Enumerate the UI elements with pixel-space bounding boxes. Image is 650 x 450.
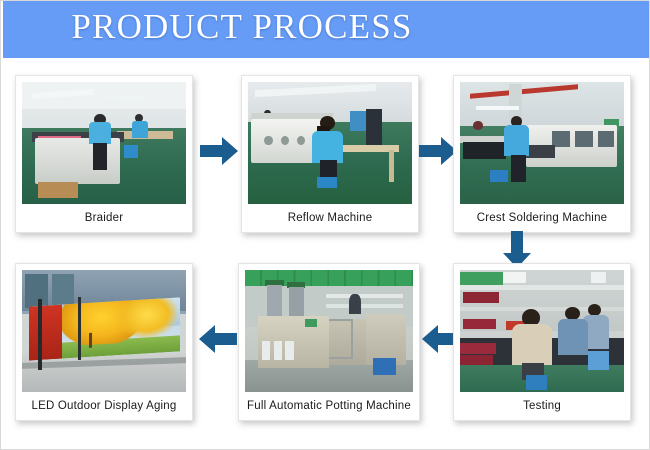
photo-crest-soldering-machine [459,81,625,205]
header-banner: PRODUCT PROCESS [3,1,650,58]
process-card-label: Crest Soldering Machine [459,205,625,232]
photo-braider [21,81,187,205]
arrow-left-icon [198,323,237,355]
scene-braider-workshop [22,82,186,204]
process-card-crest-soldering-machine[interactable]: Crest Soldering Machine [453,75,631,233]
process-card-full-automatic-potting-machine[interactable]: Full Automatic Potting Machine [238,263,420,421]
process-card-testing[interactable]: Testing [453,263,631,421]
product-process-page: PRODUCT PROCESS Br [0,0,650,450]
process-card-braider[interactable]: Braider [15,75,193,233]
scene-reflow-oven [248,82,412,204]
arrow-right-icon [200,135,239,167]
process-card-led-outdoor-display-aging[interactable]: LED Outdoor Display Aging [15,263,193,421]
photo-testing [459,269,625,393]
scene-testing-line [460,270,624,392]
photo-full-automatic-potting-machine [244,269,414,393]
scene-potting-machine [245,270,413,392]
scene-led-outdoor-display [22,270,186,392]
photo-reflow-machine [247,81,413,205]
process-card-label: Full Automatic Potting Machine [244,393,414,420]
connector-potting-to-aging [198,323,237,355]
scene-crest-soldering [460,82,624,204]
process-card-label: Testing [459,393,625,420]
page-title: PRODUCT PROCESS [3,7,650,47]
process-card-label: Braider [21,205,187,232]
photo-led-outdoor-display-aging [21,269,187,393]
process-card-reflow-machine[interactable]: Reflow Machine [241,75,419,233]
process-card-label: Reflow Machine [247,205,413,232]
process-card-label: LED Outdoor Display Aging [21,393,187,420]
connector-braider-to-reflow [200,135,239,167]
